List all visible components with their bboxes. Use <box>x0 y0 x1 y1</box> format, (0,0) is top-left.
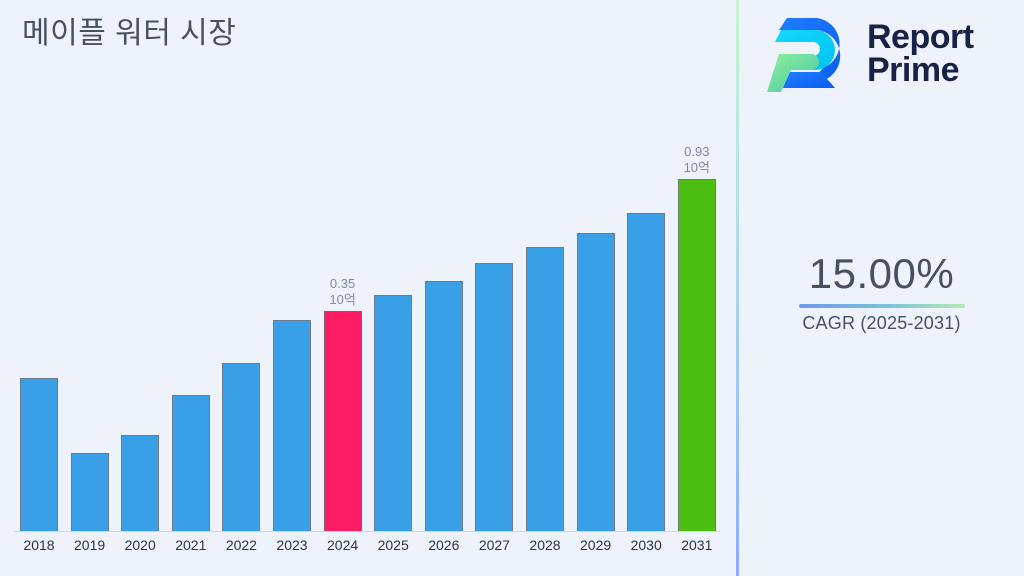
bar-2025[interactable] <box>374 295 412 531</box>
bar-group-2031[interactable]: 0.9310억 <box>678 144 716 531</box>
bar-group-2018[interactable] <box>20 378 58 531</box>
bar-group-2023[interactable] <box>273 320 311 531</box>
bar-group-2019[interactable] <box>71 453 109 531</box>
bar-2020[interactable] <box>121 435 159 531</box>
x-tick-2020: 2020 <box>115 537 165 553</box>
brand-name-line1: Report <box>867 21 974 54</box>
bar-value-label-2024: 0.3510억 <box>329 276 355 308</box>
bar-group-2026[interactable] <box>425 281 463 531</box>
screenshot-root: 메이플 워터 시장 0.3510억0.9310억 201820192020202… <box>0 0 1024 576</box>
bar-2028[interactable] <box>526 247 564 531</box>
bar-2019[interactable] <box>71 453 109 531</box>
x-tick-2025: 2025 <box>368 537 418 553</box>
bar-group-2022[interactable] <box>222 363 260 531</box>
brand-name: Report Prime <box>867 21 974 88</box>
bar-2022[interactable] <box>222 363 260 531</box>
brand-logo: Report Prime <box>765 12 974 96</box>
x-axis-baseline <box>14 531 720 532</box>
bar-group-2024[interactable]: 0.3510억 <box>324 276 362 531</box>
x-tick-2031: 2031 <box>672 537 722 553</box>
bar-chart-plot-area: 0.3510억0.9310억 <box>0 110 737 532</box>
bar-2030[interactable] <box>627 213 665 531</box>
brand-panel: Report Prime 15.00% CAGR (2025-2031) <box>739 0 1024 576</box>
bar-group-2030[interactable] <box>627 213 665 531</box>
bar-2026[interactable] <box>425 281 463 531</box>
x-tick-2022: 2022 <box>216 537 266 553</box>
bar-value-label-2031: 0.9310억 <box>684 144 710 176</box>
bar-2027[interactable] <box>475 263 513 531</box>
cagr-divider-rule <box>799 304 965 308</box>
bar-group-2029[interactable] <box>577 233 615 531</box>
cagr-value: 15.00% <box>739 250 1024 298</box>
bar-group-2027[interactable] <box>475 263 513 531</box>
bar-2029[interactable] <box>577 233 615 531</box>
bar-group-2028[interactable] <box>526 247 564 531</box>
cagr-block: 15.00% CAGR (2025-2031) <box>739 250 1024 334</box>
bar-2031[interactable] <box>678 179 716 531</box>
x-tick-2019: 2019 <box>65 537 115 553</box>
bar-group-2025[interactable] <box>374 295 412 531</box>
x-tick-2030: 2030 <box>621 537 671 553</box>
report-prime-logo-icon <box>765 12 857 96</box>
x-tick-2023: 2023 <box>267 537 317 553</box>
brand-name-line2: Prime <box>867 54 974 87</box>
x-tick-2028: 2028 <box>520 537 570 553</box>
x-tick-2029: 2029 <box>571 537 621 553</box>
x-tick-2018: 2018 <box>14 537 64 553</box>
bar-2018[interactable] <box>20 378 58 531</box>
x-axis-tick-labels: 2018201920202021202220232024202520262027… <box>0 537 737 567</box>
x-tick-2026: 2026 <box>419 537 469 553</box>
bar-group-2021[interactable] <box>172 395 210 531</box>
bar-2023[interactable] <box>273 320 311 531</box>
page-title: 메이플 워터 시장 <box>22 8 236 52</box>
x-tick-2027: 2027 <box>469 537 519 553</box>
bar-group-2020[interactable] <box>121 435 159 531</box>
bar-2024[interactable] <box>324 311 362 531</box>
x-tick-2024: 2024 <box>318 537 368 553</box>
chart-panel: 메이플 워터 시장 0.3510억0.9310억 201820192020202… <box>0 0 737 576</box>
cagr-caption: CAGR (2025-2031) <box>739 313 1024 334</box>
x-tick-2021: 2021 <box>166 537 216 553</box>
bar-2021[interactable] <box>172 395 210 531</box>
